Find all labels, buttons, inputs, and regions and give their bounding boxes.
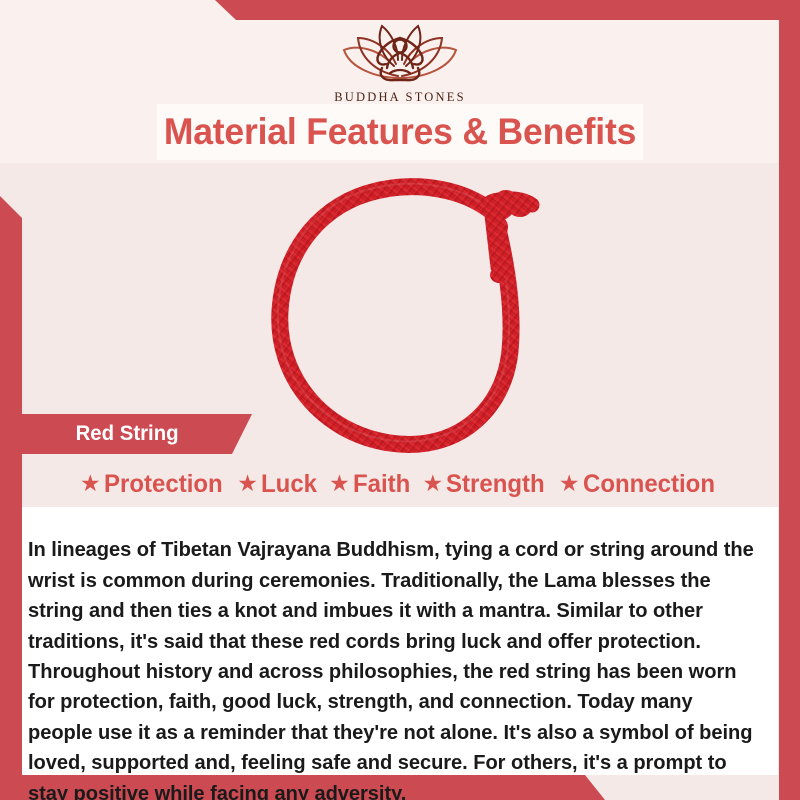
- title-banner: Material Features & Benefits: [157, 104, 643, 160]
- brand-logo: BUDDHA STONES: [0, 16, 800, 105]
- benefit-label: Faith: [353, 470, 410, 499]
- benefit-label: Protection: [104, 470, 223, 499]
- material-ribbon: Red String: [22, 414, 252, 454]
- brand-name: BUDDHA STONES: [0, 90, 800, 105]
- benefit-label: Connection: [583, 470, 715, 499]
- lotus-meditation-icon: [320, 16, 480, 88]
- star-icon: ★: [329, 472, 350, 495]
- description-text: In lineages of Tibetan Vajrayana Buddhis…: [28, 535, 755, 800]
- product-image-area: [0, 163, 800, 507]
- benefit-item: ★ Connection: [555, 470, 724, 499]
- benefit-label: Strength: [446, 470, 545, 499]
- benefit-item: ★ Strength: [419, 470, 553, 499]
- star-icon: ★: [559, 472, 580, 495]
- page-title: Material Features & Benefits: [164, 111, 636, 153]
- benefit-item: ★ Luck: [233, 470, 323, 499]
- product-infographic: BUDDHA STONES Material Features & Benefi…: [0, 0, 800, 800]
- benefit-item: ★ Faith: [325, 470, 416, 499]
- star-icon: ★: [423, 472, 444, 495]
- right-accent-band: [779, 0, 800, 800]
- benefit-item: ★ Protection: [76, 470, 231, 499]
- benefit-label: Luck: [261, 470, 317, 499]
- material-label: Red String: [76, 422, 179, 446]
- star-icon: ★: [237, 472, 258, 495]
- benefits-list: ★ Protection ★ Luck ★ Faith ★ Strength ★…: [22, 466, 778, 502]
- description-panel: In lineages of Tibetan Vajrayana Buddhis…: [22, 507, 778, 775]
- star-icon: ★: [80, 472, 101, 495]
- red-string-bracelet-image: [258, 171, 558, 461]
